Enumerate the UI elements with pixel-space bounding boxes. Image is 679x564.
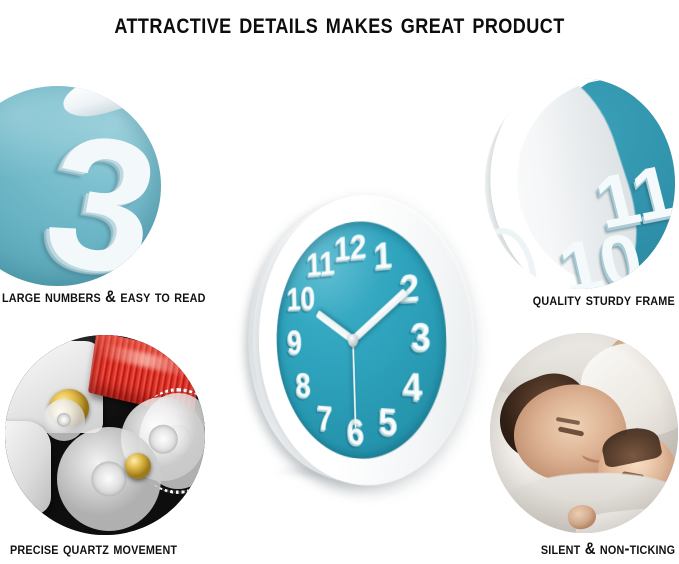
dial-numeral-4: 4 bbox=[402, 367, 423, 407]
photo-vignette bbox=[490, 333, 678, 533]
dial-numeral-7: 7 bbox=[317, 400, 334, 436]
dial-numeral-11: 11 bbox=[306, 247, 335, 282]
dial-numeral-3: 3 bbox=[410, 317, 431, 356]
dial-numeral-8: 8 bbox=[295, 368, 311, 403]
dial-numeral-9: 9 bbox=[287, 326, 303, 360]
brass-gear-small bbox=[125, 453, 151, 479]
feature-photo-sturdy-frame: 11 10 bbox=[485, 78, 675, 289]
photo-sheen bbox=[0, 86, 161, 286]
feature-caption-quartz-movement: Precise Quartz Movement bbox=[10, 540, 177, 559]
feature-photo-large-numbers: 3 bbox=[0, 86, 161, 286]
feature-caption-sturdy-frame: Quality Sturdy Frame bbox=[533, 291, 675, 310]
dial-numeral-5: 5 bbox=[378, 402, 398, 441]
product-clock: 121234567891011 bbox=[228, 196, 478, 486]
feature-caption-silent-operation: Silent & Non-ticking bbox=[541, 540, 675, 559]
dial-numeral-2: 2 bbox=[399, 268, 420, 307]
infographic-canvas: Attractive Details Makes Great Product 3… bbox=[0, 0, 679, 564]
dial-numeral-10: 10 bbox=[287, 282, 316, 315]
feature-caption-large-numbers: Large Numbers & Easy to Read bbox=[2, 288, 206, 307]
clock-body: 121234567891011 bbox=[256, 171, 480, 503]
feature-photo-quartz-movement bbox=[5, 335, 205, 535]
minute-hand bbox=[351, 288, 408, 343]
dial-numeral-10: 10 bbox=[553, 223, 648, 289]
feature-photo-silent-operation bbox=[490, 333, 678, 533]
page-title: Attractive Details Makes Great Product bbox=[48, 8, 632, 40]
gear-small bbox=[43, 399, 85, 441]
